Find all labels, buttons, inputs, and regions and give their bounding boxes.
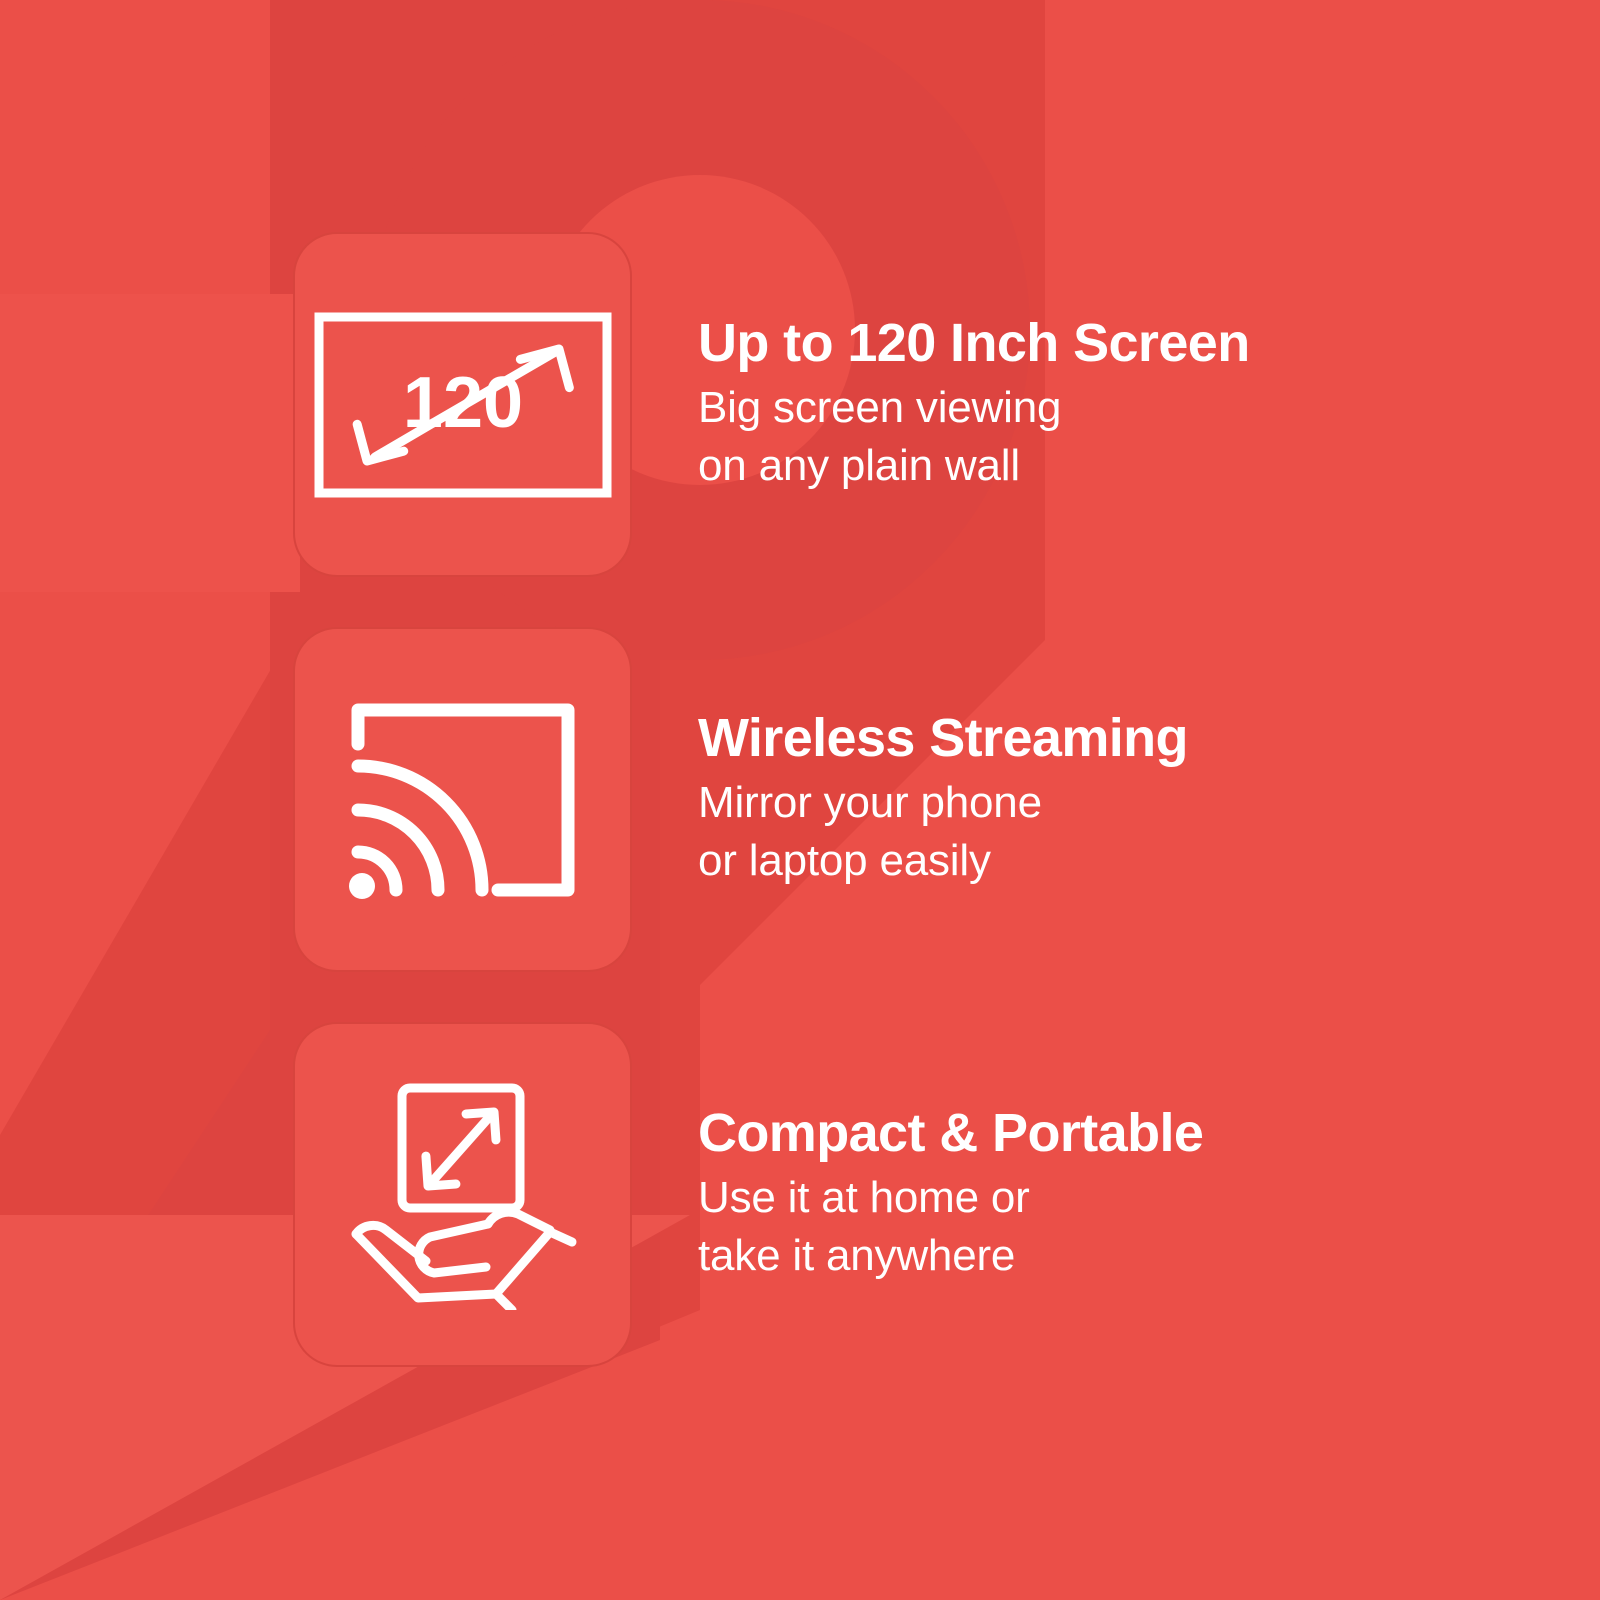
cast-source-dot	[349, 873, 375, 899]
hand-holding-screen-icon	[338, 1080, 588, 1310]
feature-icon-tile[interactable]	[293, 1022, 632, 1367]
feature-title: Up to 120 Inch Screen	[698, 315, 1393, 371]
feature-text-block: Wireless Streaming Mirror your phone or …	[632, 710, 1393, 889]
wireless-cast-icon	[348, 700, 578, 900]
feature-text-block: Compact & Portable Use it at home or tak…	[632, 1105, 1393, 1284]
feature-subtitle-line: or laptop easily	[698, 832, 1393, 889]
feature-subtitle: Mirror your phone or laptop easily	[698, 774, 1393, 888]
feature-row: Wireless Streaming Mirror your phone or …	[293, 627, 1393, 972]
screen-size-value: 120	[402, 363, 522, 443]
feature-subtitle-line: Mirror your phone	[698, 774, 1393, 831]
feature-row: Compact & Portable Use it at home or tak…	[293, 1022, 1393, 1367]
feature-text-block: Up to 120 Inch Screen Big screen viewing…	[632, 315, 1393, 494]
feature-subtitle-line: Use it at home or	[698, 1169, 1393, 1226]
feature-subtitle-line: Big screen viewing	[698, 379, 1393, 436]
feature-row: 120 Up to 120 Inch Screen Big screen vie…	[293, 232, 1393, 577]
feature-subtitle-line: on any plain wall	[698, 437, 1393, 494]
feature-subtitle: Big screen viewing on any plain wall	[698, 379, 1393, 493]
feature-title: Wireless Streaming	[698, 710, 1393, 766]
feature-subtitle-line: take it anywhere	[698, 1227, 1393, 1284]
feature-icon-tile[interactable]: 120	[293, 232, 632, 577]
feature-icon-tile[interactable]	[293, 627, 632, 972]
feature-infographic-poster: 120 Up to 120 Inch Screen Big screen vie…	[0, 0, 1600, 1600]
screen-size-120-icon: 120	[313, 305, 613, 505]
feature-subtitle: Use it at home or take it anywhere	[698, 1169, 1393, 1283]
feature-list: 120 Up to 120 Inch Screen Big screen vie…	[0, 0, 1600, 1600]
feature-title: Compact & Portable	[698, 1105, 1393, 1161]
